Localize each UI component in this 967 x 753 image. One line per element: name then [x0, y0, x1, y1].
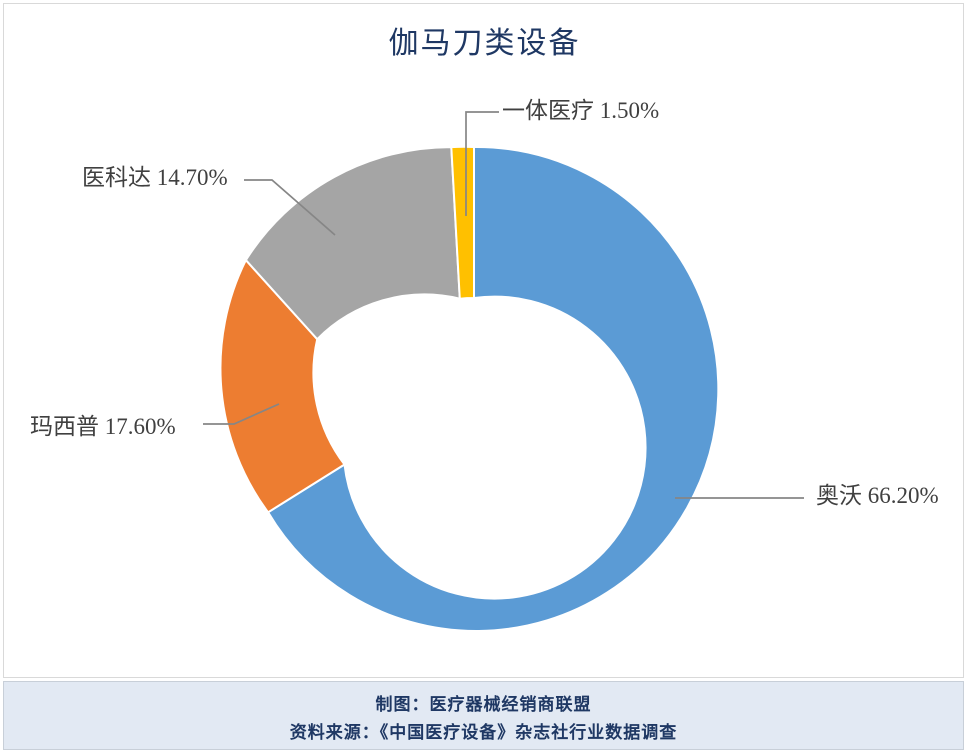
footer-source-line: 资料来源：《中国医疗设备》杂志社行业数据调查	[4, 718, 963, 743]
data-label-maxipu: 玛西普 17.60%	[30, 407, 176, 441]
footer-credit-line: 制图：医疗器械经销商联盟	[4, 690, 963, 715]
data-label-yiti: 一体医疗 1.50%	[502, 91, 659, 125]
data-label-yikeda: 医科达 14.70%	[82, 158, 228, 192]
data-label-aowo: 奥沃 66.20%	[816, 476, 939, 510]
donut-chart	[4, 4, 965, 677]
plot-area: 伽马刀类设备 一体医疗 1.50% 医科达 14.70% 玛西普 17.60% …	[3, 3, 964, 678]
chart-card: 伽马刀类设备 一体医疗 1.50% 医科达 14.70% 玛西普 17.60% …	[0, 0, 967, 753]
source-footer: 制图：医疗器械经销商联盟 资料来源：《中国医疗设备》杂志社行业数据调查	[3, 681, 964, 750]
